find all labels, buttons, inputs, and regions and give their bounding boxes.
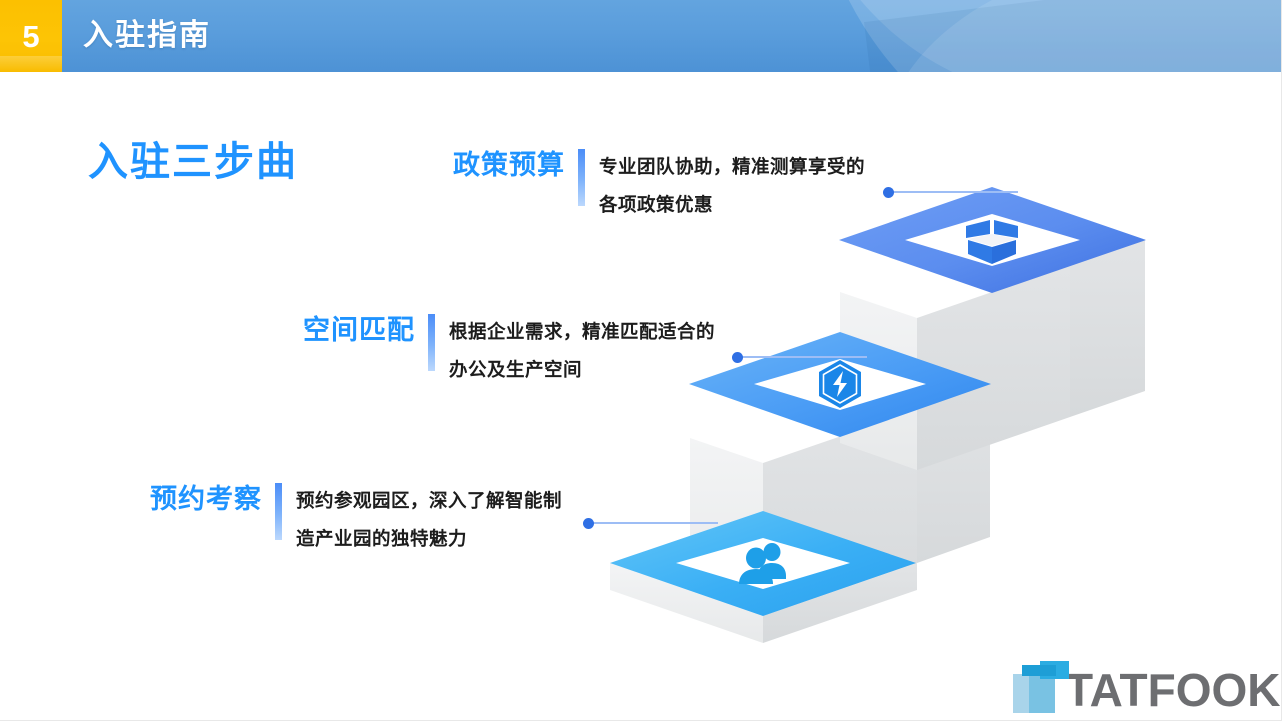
step-2-description: 根据企业需求，精准匹配适合的办公及生产空间 [449,313,719,389]
connector-line-2 [737,356,867,358]
header-title: 入驻指南 [83,19,211,53]
page-title: 入驻三步曲 [88,138,298,186]
connector-line-1 [888,191,1018,193]
connector-dot-2 [732,352,743,363]
step-3-heading: 预约考察 [150,482,262,516]
connector-dot-1 [883,187,894,198]
number-gloss [0,56,62,72]
slide-canvas: 入驻指南 5 入驻三步曲 [0,0,1282,721]
step-2-divider-bar [428,314,435,371]
step-1-heading: 政策预算 [453,148,565,182]
isometric-staircase-graphic [590,160,1210,650]
tatfook-logo-mark-icon [1013,661,1069,713]
step-1-divider-bar [578,149,585,206]
step-2-heading: 空间匹配 [303,313,415,347]
connector-line-3 [588,522,718,524]
step-1-description: 专业团队协助，精准测算享受的各项政策优惠 [599,148,869,224]
company-logo: TATFOOK [1013,661,1280,713]
connector-dot-3 [583,518,594,529]
step-2-text-group: 空间匹配 根据企业需求，精准匹配适合的办公及生产空间 [303,313,719,389]
step-3-description: 预约参观园区，深入了解智能制造产业园的独特魅力 [296,482,566,558]
logo-text: TATFOOK [1065,667,1280,713]
staircase-svg [590,160,1210,650]
step-3-text-group: 预约考察 预约参观园区，深入了解智能制造产业园的独特魅力 [150,482,566,558]
section-number-block: 5 [0,0,62,72]
header-banner: 入驻指南 [0,0,1282,72]
logo-square-4 [1022,665,1056,676]
step-1-text-group: 政策预算 专业团队协助，精准测算享受的各项政策优惠 [453,148,869,224]
step-3-divider-bar [275,483,282,540]
